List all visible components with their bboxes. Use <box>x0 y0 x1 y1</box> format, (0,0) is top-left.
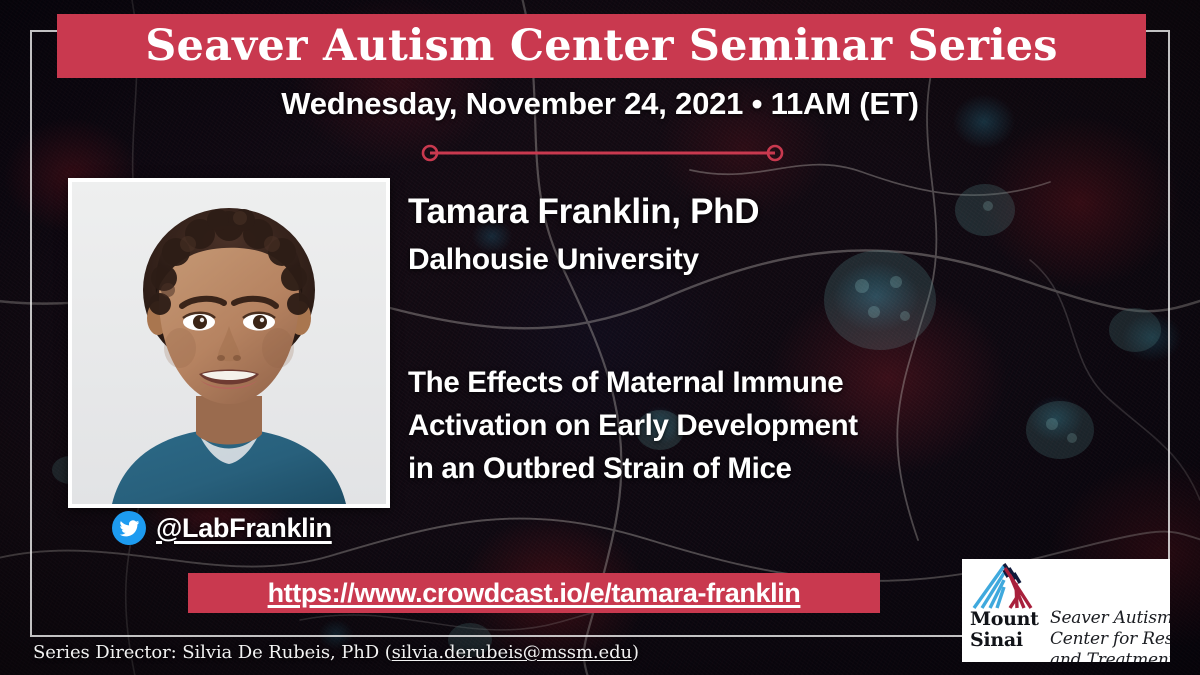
speaker-affiliation: Dalhousie University <box>408 243 699 277</box>
seaver-center-name: Seaver Autism Center for Research and Tr… <box>1050 608 1170 662</box>
speaker-portrait-illustration <box>72 182 386 504</box>
speaker-photo <box>72 182 386 504</box>
mount-sinai-mark-icon <box>971 562 1037 610</box>
series-director-footer: Series Director: Silvia De Rubeis, PhD (… <box>33 642 639 663</box>
footer-prefix: Series Director: Silvia De Rubeis, PhD ( <box>33 642 392 663</box>
talk-title-line-2: Activation on Early Development <box>408 404 1048 447</box>
registration-url-bar[interactable]: https://www.crowdcast.io/e/tamara-frankl… <box>188 573 880 613</box>
twitter-icon[interactable] <box>112 511 146 545</box>
speaker-photo-frame <box>68 178 390 508</box>
registration-url-text[interactable]: https://www.crowdcast.io/e/tamara-frankl… <box>268 578 801 609</box>
seaver-center-line-3: and Treatment <box>1050 650 1170 662</box>
seminar-poster: Seaver Autism Center Seminar Series Wedn… <box>0 0 1200 675</box>
mount-sinai-seaver-logo: Mount Sinai Seaver Autism Center for Res… <box>962 559 1170 662</box>
event-datetime: Wednesday, November 24, 2021 • 11AM (ET) <box>0 86 1200 122</box>
seaver-center-line-2: Center for Research <box>1050 629 1170 650</box>
series-title: Seaver Autism Center Seminar Series <box>145 25 1057 68</box>
series-title-bar: Seaver Autism Center Seminar Series <box>57 14 1146 78</box>
speaker-name: Tamara Franklin, PhD <box>408 192 759 232</box>
talk-title: The Effects of Maternal Immune Activatio… <box>408 361 1048 490</box>
mount-sinai-line-1: Mount <box>970 609 1039 630</box>
seaver-center-line-1: Seaver Autism <box>1050 608 1170 629</box>
series-director-email[interactable]: silvia.derubeis@mssm.edu <box>392 642 632 663</box>
twitter-handle-text[interactable]: @LabFranklin <box>156 513 332 544</box>
talk-title-line-1: The Effects of Maternal Immune <box>408 361 1048 404</box>
talk-title-line-3: in an Outbred Strain of Mice <box>408 447 1048 490</box>
mount-sinai-line-2: Sinai <box>970 630 1039 651</box>
mount-sinai-wordmark: Mount Sinai <box>970 609 1039 651</box>
twitter-handle-link[interactable]: @LabFranklin <box>112 511 332 545</box>
divider-ornament <box>420 143 785 163</box>
footer-suffix: ) <box>632 642 639 663</box>
